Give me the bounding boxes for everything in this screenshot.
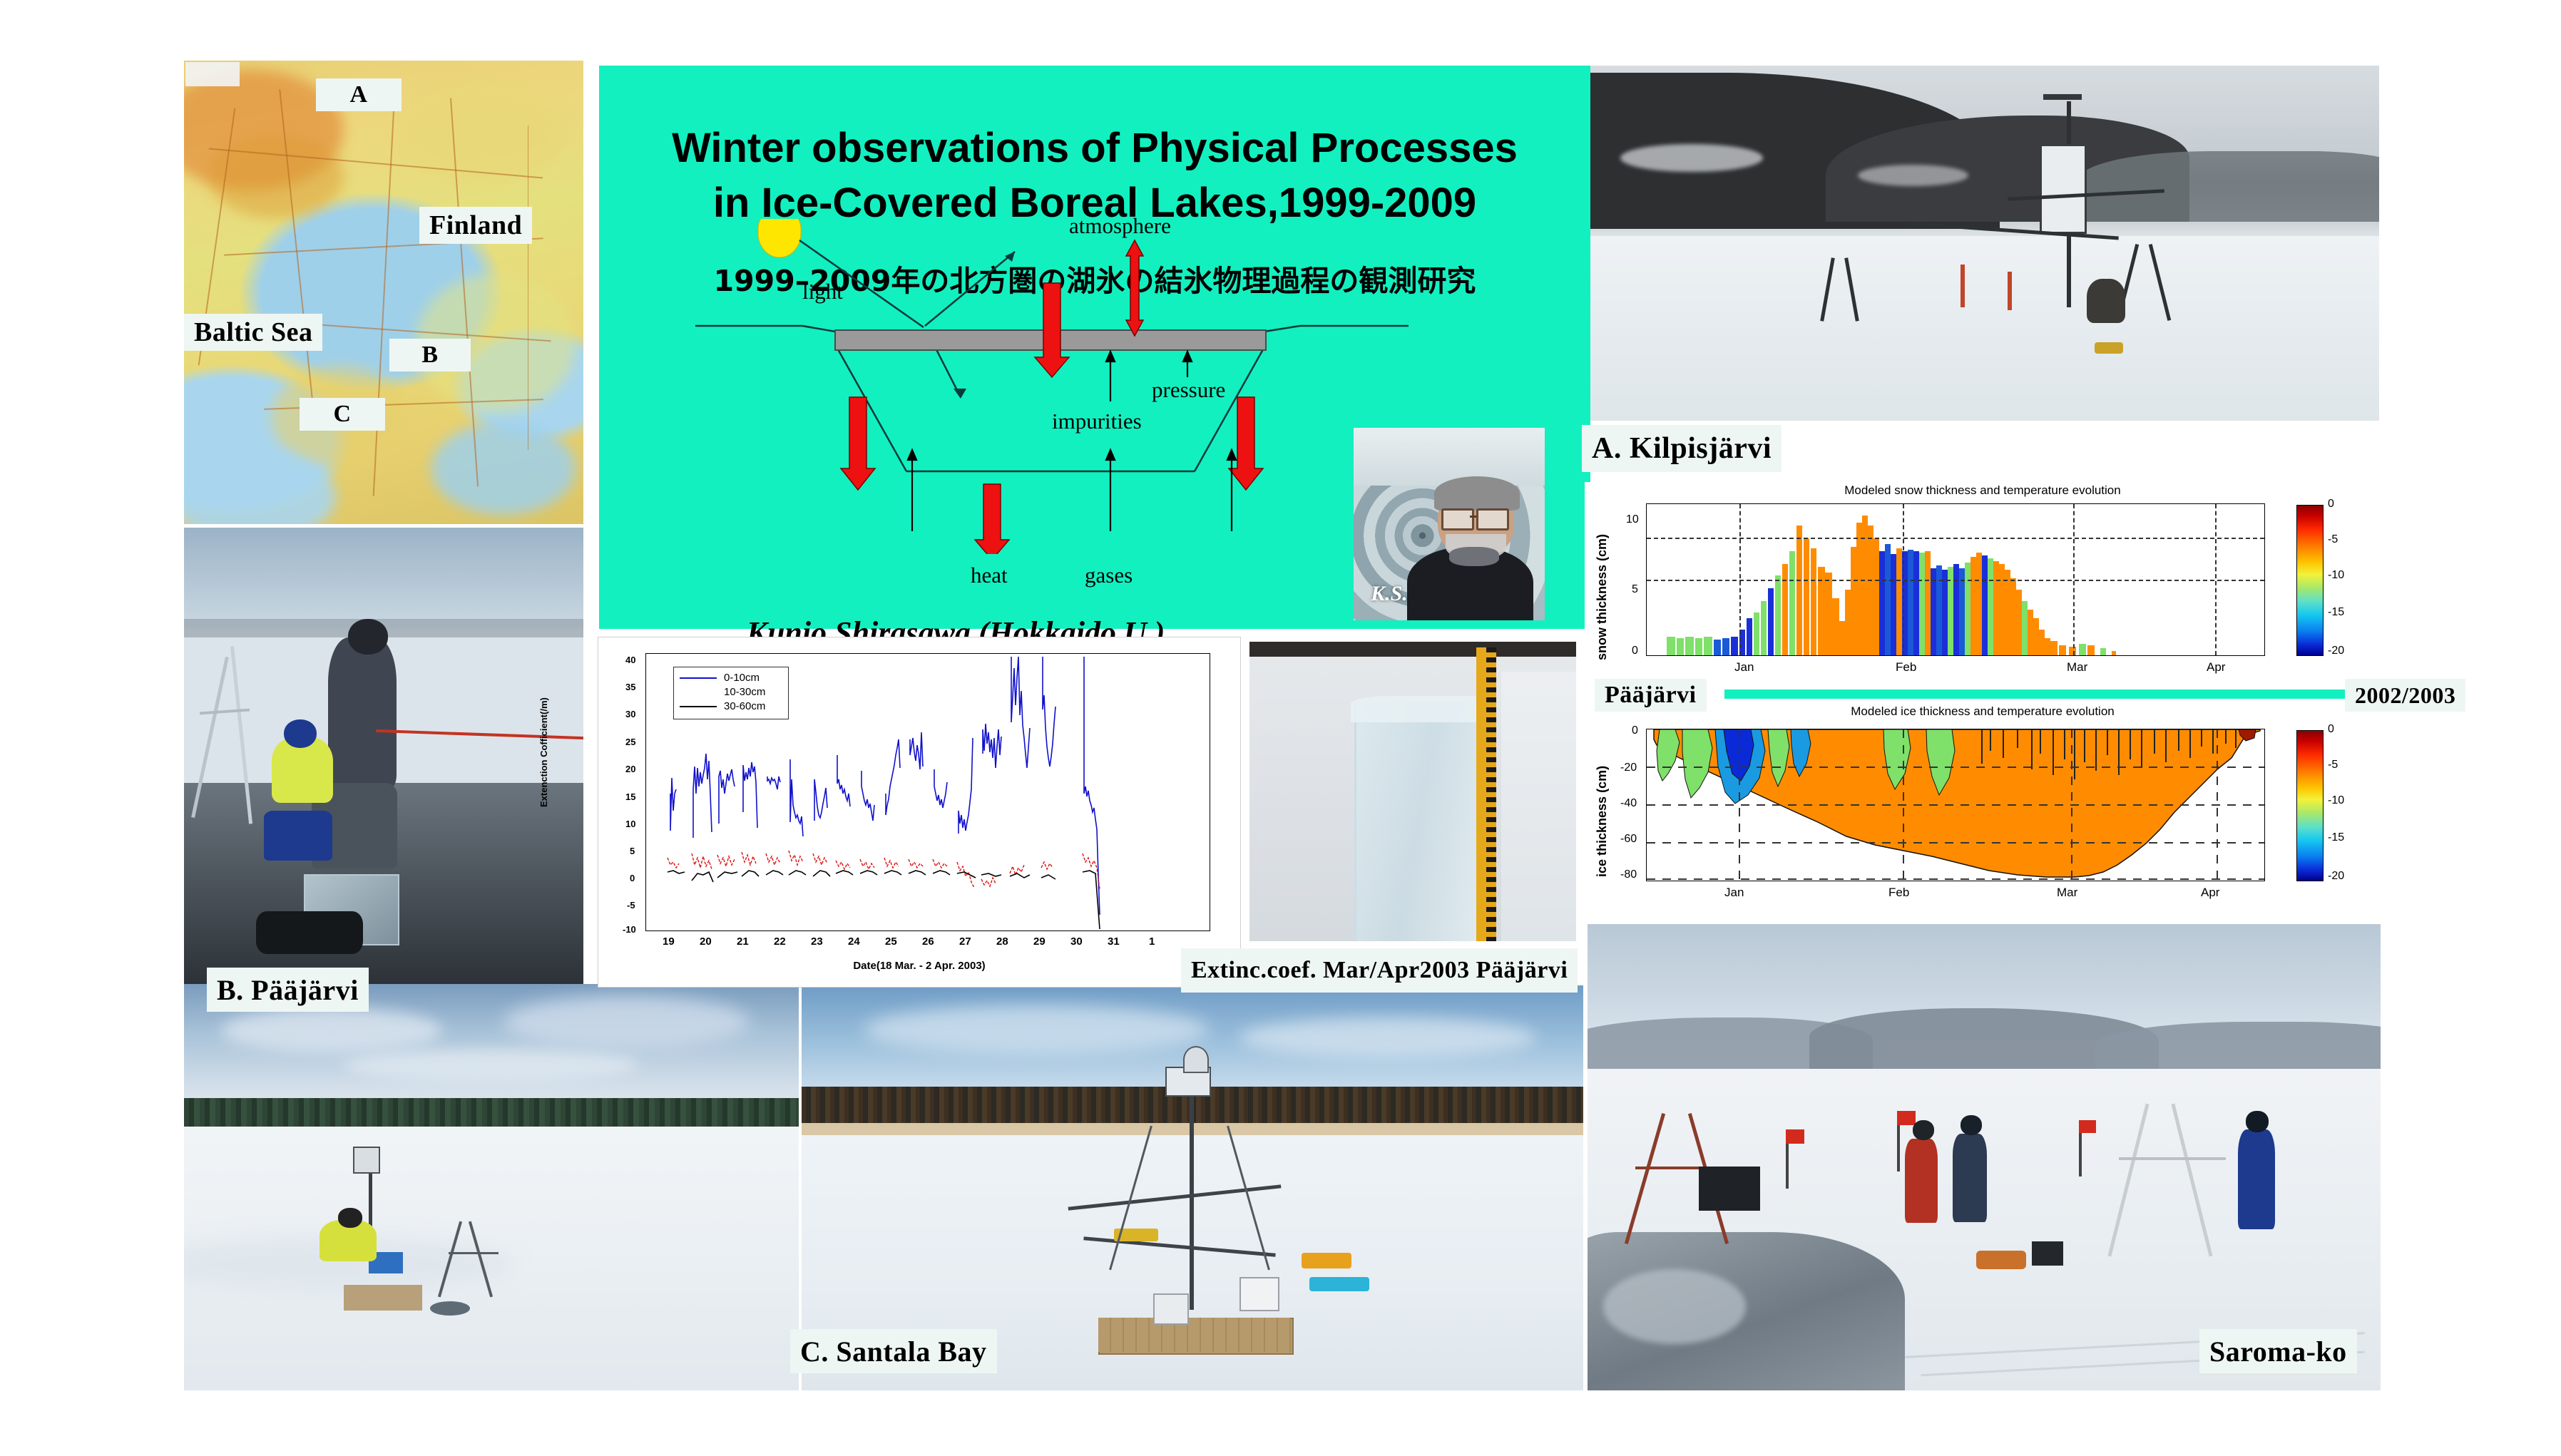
snow-cb-tick-m20: -20 [2328,645,2344,657]
ice-ytick-m80: -80 [1620,868,1637,881]
ext-xtick-27: 27 [959,935,971,948]
map-legend-box [185,62,240,86]
ext-ytick-40: 40 [625,655,635,665]
schematic-label-heat: heat [971,563,1008,588]
ice-ytick-m60: -60 [1620,833,1637,846]
snow-ytick-0: 0 [1632,645,1638,657]
ext-ytick-25: 25 [625,737,635,747]
ext-xtick-25: 25 [885,935,897,948]
ext-ytick-15: 15 [625,791,635,802]
ext-ytick-0: 0 [630,873,635,883]
extinction-plot-area: 0-10cm 10-30cm 30-60cm [645,653,1210,931]
schematic-label-gases: gases [1085,563,1133,588]
ice-plot-area [1646,729,2265,881]
schematic-label-light: light [802,279,843,304]
ext-xtick-23: 23 [811,935,823,948]
season-label: 2002/2003 [2345,679,2465,712]
station-label-paajarvi: Pääjärvi [1595,679,1707,712]
legend-line-0-10cm [680,677,717,679]
ext-xtick-24: 24 [848,935,860,948]
snow-cb-tick-m5: -5 [2328,533,2338,546]
snow-plot-area [1646,503,2265,656]
snow-xtick-apr: Apr [2207,660,2225,675]
ice-xtick-mar: Mar [2057,886,2077,900]
ice-area-series [1647,729,2264,881]
photo-ice-core-ruler [1249,642,1576,941]
ice-ytick-m20: -20 [1620,762,1637,774]
extinction-coefficient-chart: Extenction Cofficient(/m) 40 35 30 25 20… [598,637,1241,988]
snow-cb-tick-0: 0 [2328,498,2334,511]
ext-ytick-m5: -5 [627,900,635,911]
ext-ytick-35: 35 [625,682,635,692]
extinction-chart-xlabel: Date(18 Mar. - 2 Apr. 2003) [598,960,1240,972]
legend-label-10-30cm: 10-30cm [724,686,765,698]
snow-xtick-jan: Jan [1734,660,1754,675]
ice-cb-tick-0: 0 [2328,723,2334,736]
slide-canvas: A Finland Baltic Sea B C Winter observat… [0,0,2561,1456]
page-title-line1: Winter observations of Physical Processe… [599,121,1590,176]
map-label-c: C [300,398,385,431]
snow-ytick-5: 5 [1632,583,1638,596]
finland-baltic-map [184,61,583,524]
extinction-chart-ylabel: Extenction Cofficient(/m) [538,665,549,807]
map-label-finland: Finland [419,207,532,244]
caption-paajarvi: B. Pääjärvi [207,968,369,1012]
portrait-initials: K.S. [1371,582,1408,606]
station-divider-band [1724,689,2352,699]
photo-kilpisjarvi-station [1589,66,2379,421]
ice-chart-ylabel: ice thickness (cm) [1595,766,1610,877]
ext-xtick-31: 31 [1108,935,1120,948]
caption-santala-bay: C. Santala Bay [790,1329,997,1373]
photo-paajarvi-ice-coring [184,528,583,984]
map-label-b: B [389,339,471,371]
ext-xtick-19: 19 [663,935,675,948]
ice-cb-tick-m10: -10 [2328,794,2344,807]
map-label-a: A [316,78,402,111]
ext-xtick-28: 28 [996,935,1008,948]
snow-cb-tick-m10: -10 [2328,569,2344,582]
snow-chart-title: Modeled snow thickness and temperature e… [1585,483,2381,498]
ice-cb-tick-m15: -15 [2328,831,2344,844]
schematic-label-atmosphere: atmosphere [1069,213,1171,239]
ice-process-schematic: light atmosphere pressure impurities hea… [695,219,1416,554]
ice-ytick-0: 0 [1632,724,1638,737]
photo-paajarvi-lake-wide [184,984,799,1390]
caption-kilpisjarvi: A. Kilpisjärvi [1582,425,1782,472]
portrait-kunio-shirasawa: K.S. [1354,428,1545,620]
photo-saroma-ko [1588,924,2381,1390]
legend-label-0-10cm: 0-10cm [724,672,760,684]
ice-xtick-jan: Jan [1724,886,1744,900]
legend-label-30-60cm: 30-60cm [724,700,765,712]
snow-xtick-feb: Feb [1896,660,1916,675]
ext-xtick-1: 1 [1149,935,1155,948]
ext-xtick-26: 26 [922,935,934,948]
ext-ytick-m10: -10 [623,924,636,935]
extinction-chart-legend: 0-10cm 10-30cm 30-60cm [673,667,789,719]
ice-ytick-m40: -40 [1620,797,1637,810]
snow-xtick-mar: Mar [2067,660,2087,675]
snow-chart-colorbar [2296,505,2324,656]
ext-ytick-5: 5 [630,846,635,856]
ext-ytick-20: 20 [625,764,635,774]
snow-cb-tick-m15: -15 [2328,606,2344,619]
ext-xtick-29: 29 [1033,935,1046,948]
ice-xtick-feb: Feb [1888,886,1909,900]
schematic-label-pressure: pressure [1152,377,1225,403]
schematic-svg [695,219,1416,554]
legend-line-30-60cm [680,706,717,707]
modeled-ice-thickness-chart: Modeled ice thickness and temperature ev… [1585,703,2381,917]
ice-cb-tick-m20: -20 [2328,870,2344,883]
ext-ytick-30: 30 [625,709,635,719]
ext-xtick-22: 22 [774,935,786,948]
ice-cb-tick-m5: -5 [2328,759,2338,771]
modeled-snow-thickness-chart: Modeled snow thickness and temperature e… [1585,482,2381,696]
snow-ytick-10: 10 [1626,513,1639,526]
map-terrain [184,61,583,524]
ice-xtick-apr: Apr [2201,886,2219,900]
caption-extinc-coef: Extinc.coef. Mar/Apr2003 Pääjärvi [1181,948,1578,993]
ext-xtick-20: 20 [700,935,712,948]
ext-xtick-30: 30 [1070,935,1083,948]
schematic-label-impurities: impurities [1052,409,1142,434]
ice-chart-colorbar [2296,730,2324,881]
caption-saroma-ko: Saroma-ko [2199,1329,2357,1373]
snow-chart-ylabel: snow thickness (cm) [1595,534,1610,660]
ext-ytick-10: 10 [625,819,635,829]
ext-xtick-21: 21 [737,935,749,948]
map-label-baltic-sea: Baltic Sea [184,314,322,351]
